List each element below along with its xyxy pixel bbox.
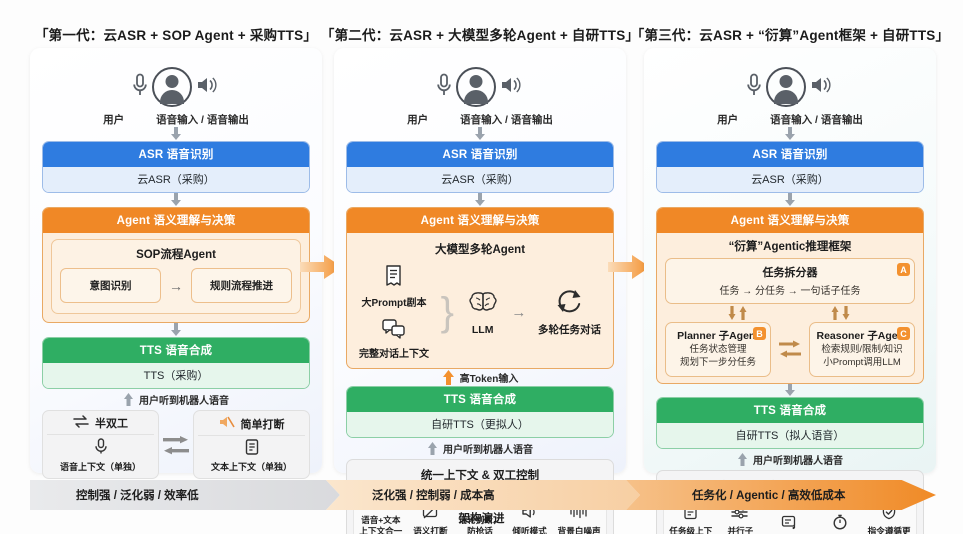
microphone-icon	[132, 73, 148, 104]
task-splitter-sub: 任务 → 分任务 → 一句话子任务	[674, 282, 906, 297]
arrow-up-icon	[123, 393, 134, 406]
panel-generation-1: 用户 语音输入 / 语音输出 ASR 语音识别 云ASR（采购） Agent 语…	[30, 48, 322, 473]
reasoner-subagent-card: C Reasoner 子Agent 检索规则/限制/知识 小Prompt调用LL…	[809, 322, 915, 377]
microphone-icon	[94, 442, 108, 459]
agent-header: Agent 语义理解与决策	[657, 208, 923, 233]
duplex-title: 半双工	[95, 415, 128, 431]
planner-title: Planner 子Agent	[670, 328, 766, 343]
avatar	[456, 67, 496, 107]
arrow-up-icon	[442, 370, 455, 385]
exchange-arrows-icon	[163, 435, 189, 455]
duplex-row-gen1: 半双工 语音上下文（单独） 简单打断	[42, 410, 310, 479]
scroll-icon	[383, 275, 405, 292]
sop-agent-title: SOP流程Agent	[60, 246, 292, 262]
flow-arrow-down	[346, 127, 614, 141]
chat-bubbles-icon	[382, 326, 406, 343]
agent-box-gen2: Agent 语义理解与决策 大模型多轮Agent 大Prompt剧本	[346, 207, 614, 369]
brain-icon	[466, 304, 500, 321]
duplex-card-interrupt: 简单打断 文本上下文（单独）	[193, 410, 310, 479]
feature-label: 语义打断	[406, 526, 456, 534]
speaker-icon	[196, 75, 220, 100]
tts-box-gen1: TTS 语音合成 TTS（采购）	[42, 337, 310, 389]
flow-arrow-down	[42, 193, 310, 207]
feature-label: 指令遵循更好	[864, 526, 914, 534]
reasoner-sub: 检索规则/限制/知识 小Prompt调用LLM	[814, 344, 910, 370]
column-title-gen1: 「第一代：云ASR + SOP Agent + 采购TTS」	[30, 22, 322, 46]
agent-header: Agent 语义理解与决策	[43, 208, 309, 233]
prompt-script-label: 大Prompt剧本	[362, 294, 427, 309]
duplex-title: 简单打断	[241, 416, 285, 432]
agent-title: 大模型多轮Agent	[355, 239, 605, 262]
sop-node-intent: 意图识别	[60, 268, 161, 303]
badge-c: C	[897, 327, 910, 340]
task-splitter-card: A 任务拆分器 任务 → 分任务 → 一句话子任务	[665, 258, 915, 304]
hear-line-gen3: 用户听到机器人语音	[656, 449, 924, 470]
feature-label: 任务级上下文	[666, 526, 716, 534]
asr-box-gen1: ASR 语音识别 云ASR（采购）	[42, 141, 310, 193]
flow-arrow-down	[42, 323, 310, 337]
evolution-bar: 控制强 / 泛化弱 / 效率低 泛化强 / 控制弱 / 成本高 任务化 / Ag…	[30, 480, 936, 510]
agent-box-gen1: Agent 语义理解与决策 SOP流程Agent 意图识别 → 规则流程推进	[42, 207, 310, 323]
feature-label: 倾听模式	[505, 526, 555, 534]
tts-box-gen3: TTS 语音合成 自研TTS（拟人语音）	[656, 397, 924, 449]
token-note: 高Token输入	[460, 370, 519, 385]
avatar	[152, 67, 192, 107]
panel-generation-2: 用户 语音输入 / 语音输出 ASR 语音识别 云ASR（采购） Agent 语…	[334, 48, 626, 473]
agent-title: “衍算”Agentic推理框架	[665, 237, 915, 258]
evolution-segment-3: 任务化 / Agentic / 高效低成本	[626, 480, 888, 510]
microphone-icon	[746, 73, 762, 104]
flow-arrow-down	[656, 193, 924, 207]
sop-agent-card: SOP流程Agent 意图识别 → 规则流程推进	[51, 239, 301, 314]
arrow-up-icon	[737, 453, 748, 466]
arrow-up-icon	[427, 442, 438, 455]
feature-label: 并行子Agent	[716, 526, 766, 534]
tts-header: TTS 语音合成	[657, 398, 923, 423]
task-splitter-title: 任务拆分器	[674, 264, 906, 280]
tts-box-gen2: TTS 语音合成 自研TTS（更拟人）	[346, 386, 614, 438]
evolution-segment-1: 控制强 / 泛化弱 / 效率低	[30, 480, 326, 510]
tts-sub: TTS（采购）	[43, 363, 309, 388]
planner-sub: 任务状态管理 规划下一步分任务	[670, 344, 766, 370]
asr-sub: 云ASR（采购）	[657, 167, 923, 192]
context-label: 完整对话上下文	[359, 345, 429, 360]
user-row-gen2	[346, 58, 614, 116]
asr-sub: 云ASR（采购）	[347, 167, 613, 192]
flow-arrow-down	[656, 127, 924, 141]
sop-node-rule: 规则流程推进	[191, 268, 292, 303]
evolution-segment-2: 泛化强 / 控制弱 / 成本高	[326, 480, 626, 510]
column-title-gen2: 「第二代：云ASR + 大模型多轮Agent + 自研TTS」	[334, 22, 626, 46]
microphone-icon	[436, 73, 452, 104]
user-row-gen3	[656, 58, 924, 116]
hear-line-gen2: 用户听到机器人语音	[346, 438, 614, 459]
multi-turn-label: 多轮任务对话	[538, 322, 601, 337]
column-title-gen3: 「第三代：云ASR + “衍算”Agent框架 + 自研TTS」	[644, 22, 936, 46]
flow-arrow-down	[42, 127, 310, 141]
hear-label: 用户听到机器人语音	[139, 392, 229, 407]
tts-header: TTS 语音合成	[43, 338, 309, 363]
avatar	[766, 67, 806, 107]
agent-header: Agent 语义理解与决策	[347, 208, 613, 233]
prompt-script-item: 大Prompt剧本	[362, 264, 427, 309]
context-item: 完整对话上下文	[359, 319, 429, 360]
token-note-row: 高Token输入	[346, 369, 614, 386]
arrow-right-icon: →	[169, 278, 183, 294]
badge-b: B	[753, 327, 766, 340]
exchange-arrows-icon	[779, 322, 801, 377]
asr-header: ASR 语音识别	[43, 142, 309, 167]
badge-a: A	[897, 263, 910, 276]
multi-turn-item: 多轮任务对话	[538, 287, 601, 337]
duplex-card-half: 半双工 语音上下文（单独）	[42, 410, 159, 479]
hear-line-gen1: 用户听到机器人语音	[42, 389, 310, 410]
bidirectional-arrows	[665, 304, 915, 322]
mute-icon	[219, 415, 235, 432]
planner-subagent-card: B Planner 子Agent 任务状态管理 规划下一步分任务	[665, 322, 771, 377]
tts-sub: 自研TTS（更拟人）	[347, 412, 613, 437]
evolution-label: 架构演进	[0, 510, 963, 526]
brace-icon: }	[441, 296, 454, 328]
panel-generation-3: 用户 语音输入 / 语音输出 ASR 语音识别 云ASR（采购） Agent 语…	[644, 48, 936, 473]
asr-header: ASR 语音识别	[657, 142, 923, 167]
arrow-right-icon: →	[511, 304, 526, 321]
loop-icon	[554, 302, 584, 319]
feature-label: 背景白噪声	[554, 526, 604, 534]
asr-box-gen2: ASR 语音识别 云ASR（采购）	[346, 141, 614, 193]
llm-label: LLM	[466, 324, 500, 336]
asr-sub: 云ASR（采购）	[43, 167, 309, 192]
hear-label: 用户听到机器人语音	[753, 452, 843, 467]
asr-header: ASR 语音识别	[347, 142, 613, 167]
document-icon	[245, 442, 259, 459]
flow-arrow-down	[656, 384, 924, 397]
half-duplex-icon	[73, 415, 89, 431]
speaker-icon	[500, 75, 524, 100]
reasoner-title: Reasoner 子Agent	[814, 328, 910, 343]
hear-label: 用户听到机器人语音	[443, 441, 533, 456]
flow-arrow-down	[346, 193, 614, 207]
duplex-sub: 文本上下文（单独）	[198, 460, 305, 473]
diagram-canvas: 「第一代：云ASR + SOP Agent + 采购TTS」 「第二代：云ASR…	[0, 0, 963, 534]
tts-header: TTS 语音合成	[347, 387, 613, 412]
llm-item: LLM	[466, 289, 500, 336]
asr-box-gen3: ASR 语音识别 云ASR（采购）	[656, 141, 924, 193]
duplex-sub: 语音上下文（单独）	[47, 460, 154, 473]
speaker-icon	[810, 75, 834, 100]
tts-sub: 自研TTS（拟人语音）	[657, 423, 923, 448]
agent-box-gen3: Agent 语义理解与决策 “衍算”Agentic推理框架 A 任务拆分器 任务…	[656, 207, 924, 384]
user-row-gen1	[42, 58, 310, 116]
